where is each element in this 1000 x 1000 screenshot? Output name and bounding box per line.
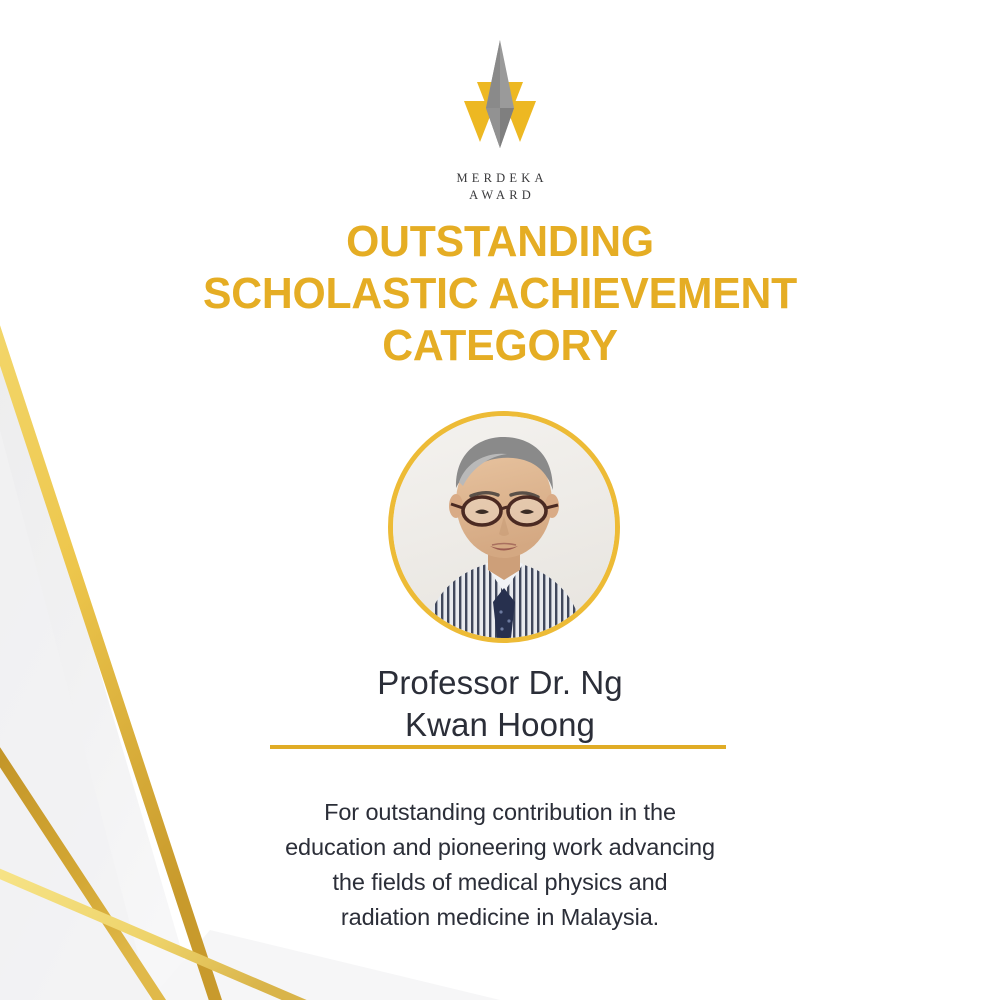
logo-wordmark: MERDEKA AWARD bbox=[0, 170, 1000, 204]
recipient-name: Professor Dr. Ng Kwan Hoong bbox=[150, 662, 850, 746]
category-title-line-3: CATEGORY bbox=[112, 320, 888, 372]
award-announcement-poster: MERDEKA AWARD OUTSTANDING SCHOLASTIC ACH… bbox=[0, 0, 1000, 1000]
recipient-portrait bbox=[388, 411, 620, 643]
brand-logo: MERDEKA AWARD bbox=[0, 38, 1000, 204]
category-title-line-1: OUTSTANDING bbox=[112, 216, 888, 268]
recipient-name-line-2: Kwan Hoong bbox=[150, 704, 850, 746]
logo-wordmark-line-2: AWARD bbox=[0, 187, 1000, 204]
category-title-line-2: SCHOLASTIC ACHIEVEMENT bbox=[112, 268, 888, 320]
merdeka-award-emblem-icon bbox=[452, 38, 548, 162]
citation-line-3: the fields of medical physics and bbox=[170, 865, 830, 900]
category-title: OUTSTANDING SCHOLASTIC ACHIEVEMENT CATEG… bbox=[112, 216, 888, 372]
citation-line-2: education and pioneering work advancing bbox=[170, 830, 830, 865]
grey-wedge-bottom bbox=[150, 930, 500, 1000]
logo-wordmark-line-1: MERDEKA bbox=[0, 170, 1000, 187]
citation-line-4: radiation medicine in Malaysia. bbox=[170, 900, 830, 935]
grey-panel-shape-secondary bbox=[0, 430, 150, 1000]
citation-text: For outstanding contribution in the educ… bbox=[170, 795, 830, 935]
gold-diagonal-line-steep bbox=[0, 738, 170, 1000]
gold-divider bbox=[270, 745, 726, 749]
recipient-name-line-1: Professor Dr. Ng bbox=[150, 662, 850, 704]
recipient-portrait-image bbox=[393, 416, 615, 638]
citation-line-1: For outstanding contribution in the bbox=[170, 795, 830, 830]
